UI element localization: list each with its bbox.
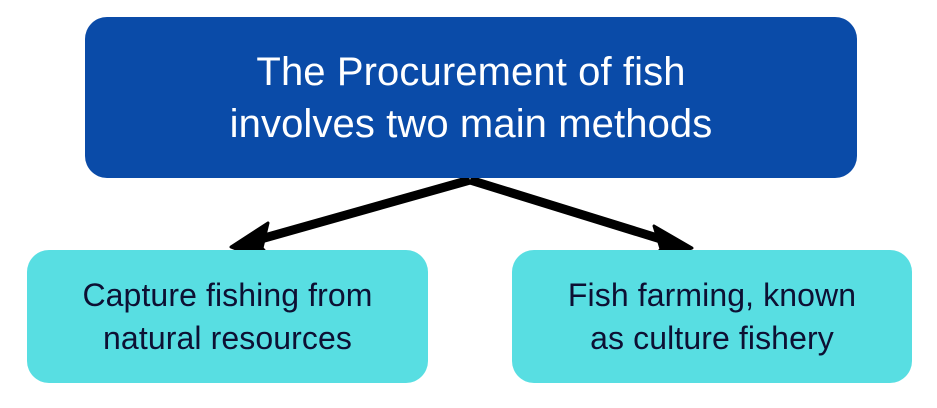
root-node-line-2: involves two main methods — [230, 98, 713, 150]
branch-node-fish-farming: Fish farming, known as culture fishery — [512, 250, 912, 383]
diagram-canvas: The Procurement of fish involves two mai… — [0, 0, 937, 408]
root-node: The Procurement of fish involves two mai… — [85, 17, 857, 178]
branch-node-capture-fishing: Capture fishing from natural resources — [27, 250, 428, 383]
branch-fish-farming-line-1: Fish farming, known — [568, 274, 856, 317]
root-node-line-1: The Procurement of fish — [256, 46, 685, 98]
branch-fish-farming-line-2: as culture fishery — [590, 317, 834, 360]
branch-capture-fishing-line-1: Capture fishing from — [82, 274, 372, 317]
branch-capture-fishing-line-2: natural resources — [103, 317, 352, 360]
